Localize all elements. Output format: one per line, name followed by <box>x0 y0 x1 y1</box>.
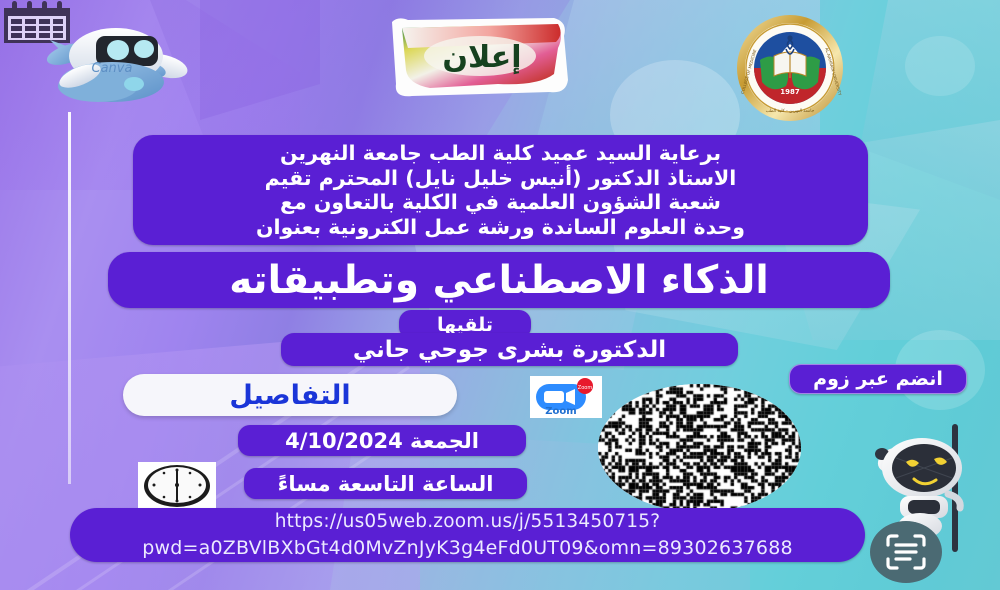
zoom-wordmark: Zoom <box>545 406 576 417</box>
background-facet <box>200 0 320 120</box>
scan-icon[interactable] <box>870 521 942 583</box>
robot-string <box>68 112 71 484</box>
qr-code-canvas[interactable] <box>598 384 801 512</box>
event-time: الساعة التاسعة مساءً <box>244 468 527 499</box>
robot-brand-text: Canva <box>92 61 133 76</box>
zoom-logo-icon: Zoom Zoom <box>530 376 602 418</box>
zoom-badge-label: Zoom <box>578 385 593 391</box>
meeting-link-line-2: pwd=a0ZBVlBXbGt4d0MvZnJyK3g4eFd0UT09&omn… <box>78 535 857 561</box>
background-blob <box>905 36 975 96</box>
background-facet <box>860 0 1000 200</box>
qr-code[interactable] <box>598 384 801 512</box>
poster-canvas: Canva <box>0 0 1000 590</box>
intro-text-block: برعاية السيد عميد كلية الطب جامعة النهري… <box>133 135 868 245</box>
details-heading: التفاصيل <box>123 374 457 416</box>
page-title: الذكاء الاصطناعي وتطبيقاته <box>108 252 890 308</box>
intro-line-1: برعاية السيد عميد كلية الطب جامعة النهري… <box>151 141 850 166</box>
robot-mascot-icon: Canva <box>24 14 204 126</box>
intro-line-3: شعبة الشؤون العلمية في الكلية بالتعاون م… <box>151 190 850 215</box>
presenter-name: الدكتورة بشرى جوحي جاني <box>281 333 738 366</box>
logo-year: 1987 <box>780 88 800 96</box>
clock-icon <box>138 462 216 509</box>
intro-line-4: وحدة العلوم الساندة ورشة عمل الكترونية ب… <box>151 215 850 240</box>
intro-line-2: الاستاذ الدكتور (أنيس خليل نايل) المحترم… <box>151 166 850 191</box>
meeting-link-line-1: https://us05web.zoom.us/j/5513450715? <box>78 509 857 535</box>
event-date: الجمعة 4/10/2024 <box>238 425 526 456</box>
announcement-banner: إعلان <box>378 14 583 102</box>
join-via-zoom-label: انضم عبر زوم <box>789 364 967 394</box>
announcement-banner-text: إعلان <box>442 40 521 75</box>
zoom-meeting-link[interactable]: https://us05web.zoom.us/j/5513450715? pw… <box>70 508 865 562</box>
university-logo: 1987 جامعة النهرين - كلية الطب COLLEGE O… <box>736 14 844 122</box>
logo-institution-ar: جامعة النهرين - كلية الطب <box>766 108 815 114</box>
